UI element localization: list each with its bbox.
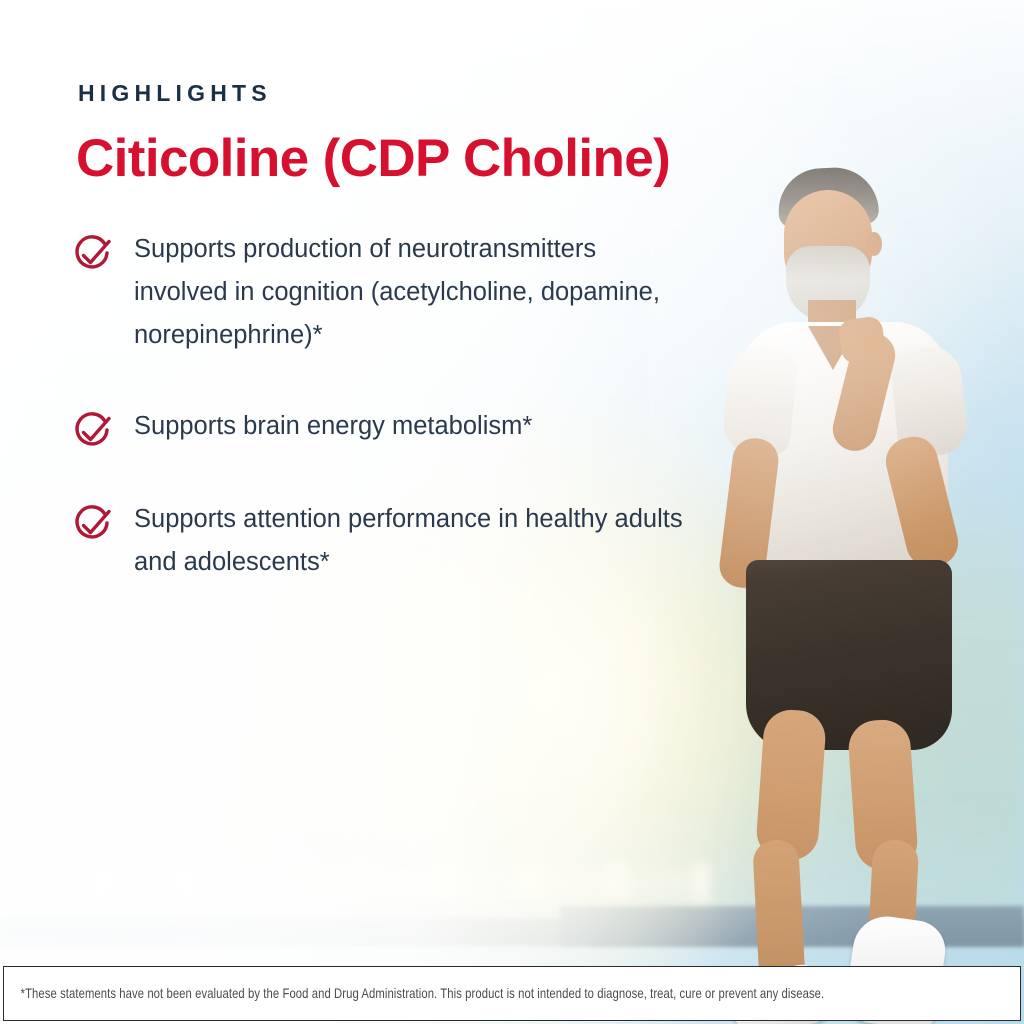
list-item-label: Supports attention performance in health… <box>134 498 690 584</box>
highlights-list: Supports production of neurotransmitters… <box>70 228 690 584</box>
section-eyebrow: HIGHLIGHTS <box>78 80 272 107</box>
list-item-label: Supports brain energy metabolism* <box>134 405 532 448</box>
runner-ear <box>866 232 882 256</box>
runner-fist <box>837 315 887 365</box>
product-highlights-banner: HIGHLIGHTS Citicoline (CDP Choline) Supp… <box>0 0 1024 1024</box>
check-circle-icon <box>70 503 114 547</box>
runner-left-thigh <box>755 708 827 862</box>
list-item-label: Supports production of neurotransmitters… <box>134 228 690 357</box>
check-circle-icon <box>70 233 114 277</box>
page-title: Citicoline (CDP Choline) <box>76 128 670 189</box>
highlights-content: HIGHLIGHTS Citicoline (CDP Choline) Supp… <box>0 0 720 940</box>
check-circle-icon <box>70 410 114 454</box>
list-item: Supports brain energy metabolism* <box>70 405 690 454</box>
runner-photo <box>690 150 1024 940</box>
list-item: Supports attention performance in health… <box>70 498 690 584</box>
disclaimer-text: *These statements have not been evaluate… <box>4 986 836 1001</box>
list-item: Supports production of neurotransmitters… <box>70 228 690 357</box>
disclaimer-footer: *These statements have not been evaluate… <box>3 966 1021 1021</box>
